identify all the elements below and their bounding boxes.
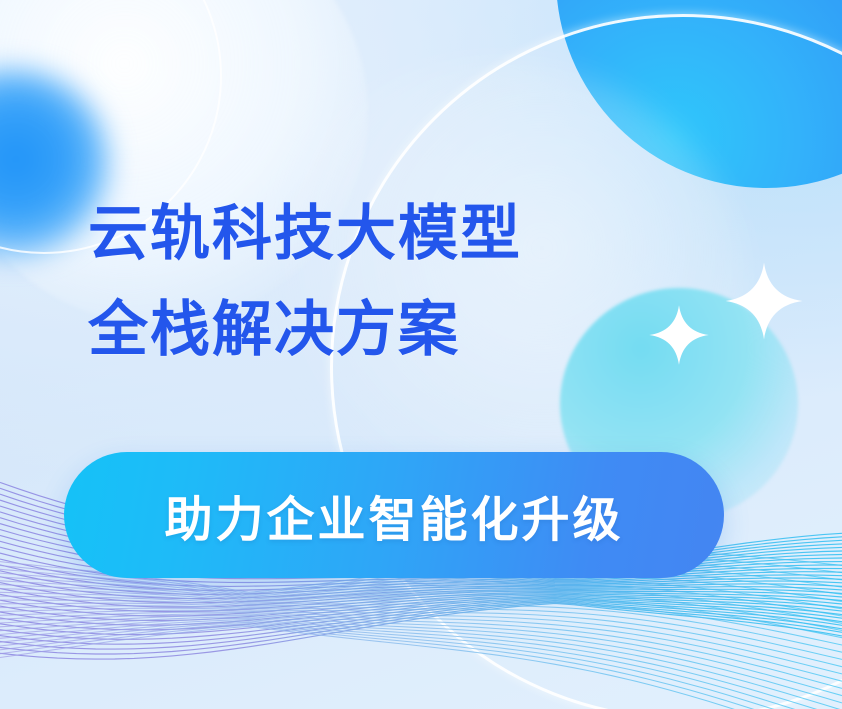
subtitle-pill-label: 助力企业智能化升级 [164, 480, 623, 550]
banner-headline: 云轨科技大模型 全栈解决方案 [88, 186, 522, 378]
banner-canvas: 云轨科技大模型 全栈解决方案 助力企业智能化升级 [0, 0, 842, 709]
sparkle-large-icon [724, 258, 804, 344]
headline-line-1: 云轨科技大模型 [88, 186, 522, 282]
blue-blob-top-right [556, 0, 842, 188]
headline-line-2: 全栈解决方案 [88, 282, 522, 378]
sparkle-small-icon [648, 302, 710, 368]
subtitle-pill-badge[interactable]: 助力企业智能化升级 [64, 452, 724, 578]
